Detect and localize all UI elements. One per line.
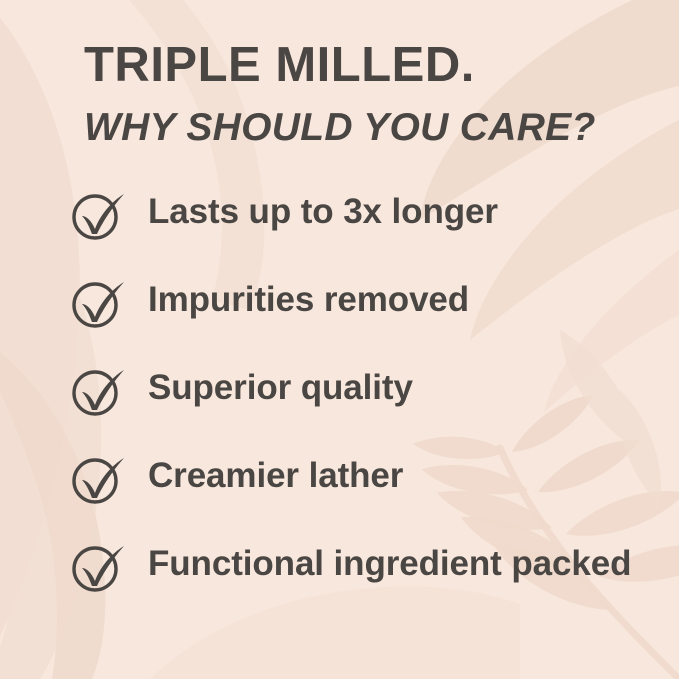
check-cell — [70, 362, 148, 419]
check-circle-icon — [70, 453, 128, 507]
check-cell — [70, 186, 148, 243]
list-item-label: Functional ingredient packed — [148, 538, 640, 584]
check-cell — [70, 538, 148, 595]
list-item: Superior quality — [70, 362, 640, 450]
benefit-list: Lasts up to 3x longer Impurities removed — [70, 186, 640, 626]
check-circle-icon — [70, 277, 128, 331]
list-item-label: Impurities removed — [148, 274, 640, 320]
list-item-label: Lasts up to 3x longer — [148, 186, 640, 232]
check-circle-icon — [70, 189, 128, 243]
list-item: Lasts up to 3x longer — [70, 186, 640, 274]
list-item-label: Superior quality — [148, 362, 640, 408]
list-item: Creamier lather — [70, 450, 640, 538]
list-item: Functional ingredient packed — [70, 538, 640, 626]
check-circle-icon — [70, 541, 128, 595]
page-title: TRIPLE MILLED. — [84, 41, 475, 90]
page-subtitle: WHY SHOULD YOU CARE? — [84, 108, 596, 147]
list-item: Impurities removed — [70, 274, 640, 362]
check-cell — [70, 450, 148, 507]
list-item-label: Creamier lather — [148, 450, 640, 496]
check-circle-icon — [70, 365, 128, 419]
check-cell — [70, 274, 148, 331]
benefit-infographic: TRIPLE MILLED. WHY SHOULD YOU CARE? Last… — [0, 0, 679, 679]
